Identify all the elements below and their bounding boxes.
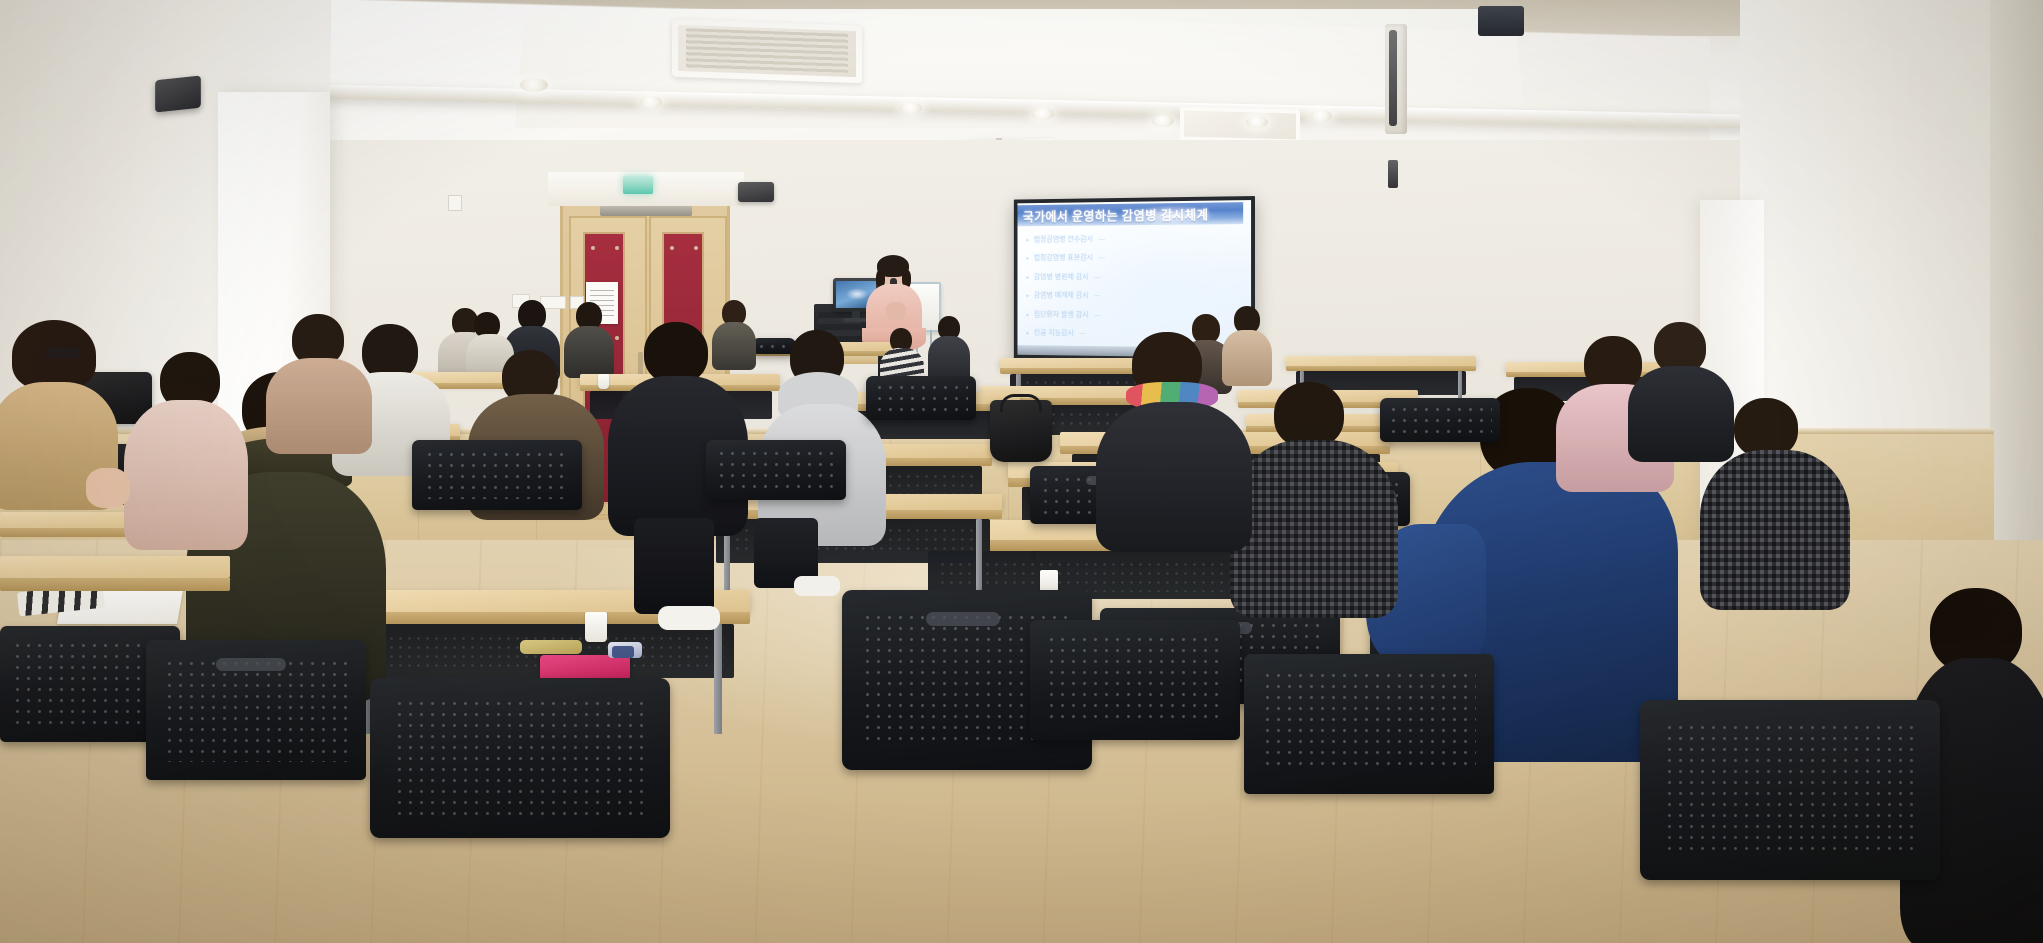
chair-handle (926, 612, 1000, 626)
chair-perforation (164, 658, 350, 762)
person-torso (1628, 366, 1734, 462)
presenter-hands (886, 302, 906, 320)
snack-wrapper (520, 640, 582, 654)
desk-top (1286, 356, 1476, 366)
downlight-icon (1246, 116, 1268, 128)
person-hand (86, 468, 130, 508)
handbag-strap (1000, 394, 1042, 412)
slide-bullet-arrow-icon: — (1094, 293, 1101, 300)
paper-cup (585, 612, 607, 642)
chair-perforation (1262, 670, 1476, 772)
chair-perforation (12, 640, 166, 728)
slide-bullet-row: ▸법정감염병 전수감시— (1027, 232, 1241, 244)
wall-device-right-face (1389, 30, 1397, 126)
downlight-icon (640, 96, 662, 108)
person-shoe (794, 576, 840, 596)
wall-speaker-right-icon (1478, 6, 1524, 36)
slide-bullet-label: 감염병 병원체 감시 (1034, 271, 1089, 282)
downlight-icon (900, 102, 922, 114)
chair-perforation (756, 341, 792, 351)
slide-bullet-label: 법정감염병 표본감시 (1034, 252, 1093, 263)
person-torso (564, 326, 614, 378)
paper-cup (598, 374, 609, 389)
downlight-icon (1152, 115, 1174, 127)
downlight-icon (1310, 110, 1332, 122)
desk-leg (714, 624, 722, 734)
door-stud (591, 246, 595, 250)
person-jacket-check (1230, 440, 1398, 618)
slide-bullet-row: ▸법정감염병 표본감시— (1027, 251, 1241, 263)
person-torso (1096, 402, 1252, 552)
slide-bullet-arrow-icon: — (1099, 255, 1106, 262)
presenter-monitor-glare (846, 288, 868, 300)
glasses-icon (46, 348, 80, 358)
exit-sign-icon (623, 176, 653, 194)
chair-perforation (424, 449, 570, 499)
door-stud (615, 336, 619, 340)
slide-bullet-arrow-icon: — (1099, 236, 1106, 243)
seminar-room-photo: 국가에서 운영하는 감염병 감시체계 ▸법정감염병 전수감시—▸법정감염병 표본… (0, 0, 2043, 943)
bullet-dot-icon: ▸ (1027, 293, 1030, 300)
slide-bullet-row: ▸감염병 병원체 감시— (1027, 271, 1241, 282)
door-stud (615, 246, 619, 250)
chair-perforation (394, 698, 648, 816)
slide-bullet-label: 법정감염병 전수감시 (1034, 233, 1093, 244)
ceiling-speaker-icon (738, 182, 774, 202)
person-head (1734, 398, 1798, 458)
slide-bullet-arrow-icon: — (1079, 330, 1086, 337)
door-stud (694, 246, 698, 250)
ceiling-air-conditioner-secondary (1180, 107, 1300, 144)
bullet-dot-icon: ▸ (1027, 330, 1030, 337)
person-coat (124, 400, 248, 550)
chair-perforation (1388, 404, 1492, 434)
person-leg (634, 518, 714, 614)
person-jacket-check (1700, 450, 1850, 610)
person-torso (712, 322, 756, 370)
chair-perforation (716, 448, 836, 490)
downlight-icon (520, 78, 548, 92)
downlight-icon (1032, 108, 1054, 120)
air-conditioner-grille-icon (686, 28, 848, 74)
slide-bullet-label: 인공 지능감시 (1034, 327, 1074, 338)
chair-perforation (1664, 722, 1916, 856)
chair-perforation (874, 382, 968, 412)
slide-bullet-row: ▸감염병 매개체 감시— (1027, 290, 1241, 301)
person-head (644, 322, 708, 384)
chair-perforation (1046, 634, 1224, 720)
snack-item-blue (612, 646, 634, 658)
projection-screen: 국가에서 운영하는 감염병 감시체계 ▸법정감염병 전수감시—▸법정감염병 표본… (1014, 196, 1255, 364)
wainscot-cap-rail-right (1764, 428, 1994, 434)
slide-bullet-label: 집단환자 발생 감시 (1034, 308, 1089, 319)
person-torso (1222, 330, 1272, 386)
slide-title: 국가에서 운영하는 감염병 감시체계 (1023, 204, 1236, 225)
person-top (266, 358, 372, 454)
wall-speaker-left-icon (155, 76, 201, 113)
wall-device-right-lower (1388, 160, 1398, 188)
person-shoe (658, 606, 720, 630)
door-stud (670, 246, 674, 250)
slide-bullet-label: 감염병 매개체 감시 (1034, 290, 1089, 301)
person-head (1274, 382, 1344, 448)
bullet-dot-icon: ▸ (1027, 274, 1030, 281)
bullet-dot-icon: ▸ (1027, 255, 1030, 262)
wall-plate-icon (448, 195, 462, 211)
desk-top (0, 556, 230, 578)
door-closer-bar (600, 206, 692, 216)
chair-handle (216, 658, 286, 671)
desk-edge (0, 578, 230, 591)
bullet-dot-icon: ▸ (1027, 311, 1030, 318)
slide-bullet-arrow-icon: — (1094, 312, 1101, 319)
bullet-dot-icon: ▸ (1027, 237, 1030, 244)
slide-bullet-arrow-icon: — (1094, 274, 1101, 281)
